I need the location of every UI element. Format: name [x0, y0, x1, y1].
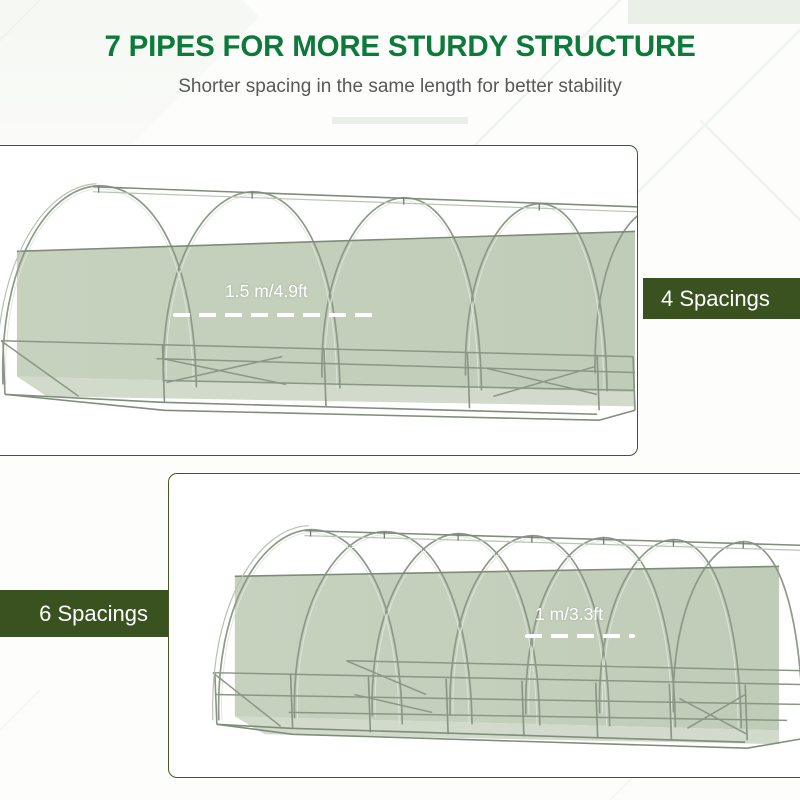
- badge-6-spacings-label: 6 Spacings: [39, 601, 148, 627]
- panel-6-spacings: [168, 473, 800, 778]
- badge-6-spacings: 6 Spacings: [0, 590, 168, 637]
- page-title: 7 PIPES FOR MORE STURDY STRUCTURE: [0, 0, 800, 64]
- title-divider: [332, 117, 468, 124]
- greenhouse-illustration-6-spacings: [169, 474, 800, 777]
- measure-label-top: 1.5 m/4.9ft: [225, 281, 308, 302]
- measure-dashline-top: [173, 313, 373, 317]
- badge-4-spacings-label: 4 Spacings: [661, 286, 770, 312]
- ridge-pole: [93, 187, 637, 213]
- page-subtitle: Shorter spacing in the same length for b…: [0, 64, 800, 98]
- measure-dashline-bottom: [525, 634, 635, 638]
- measure-label-bottom: 1 m/3.3ft: [535, 604, 603, 625]
- badge-4-spacings: 4 Spacings: [643, 278, 800, 319]
- greenhouse-illustration-4-spacings: [0, 146, 637, 455]
- infographic-canvas: 7 PIPES FOR MORE STURDY STRUCTURE Shorte…: [0, 0, 800, 800]
- panel-4-spacings: [0, 145, 638, 456]
- header: 7 PIPES FOR MORE STURDY STRUCTURE Shorte…: [0, 0, 800, 98]
